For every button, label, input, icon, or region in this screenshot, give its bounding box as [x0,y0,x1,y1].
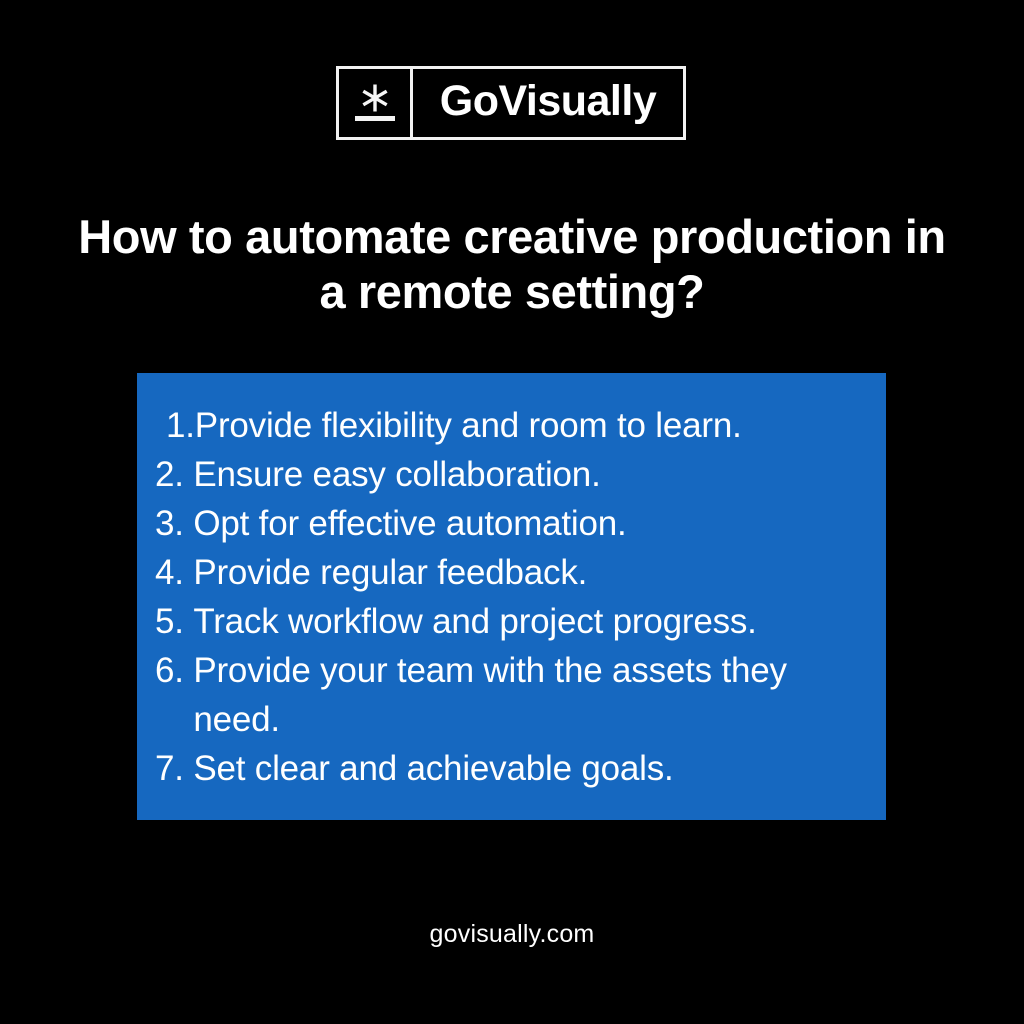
list-item-label: Provide your team with the assets they n… [193,646,868,744]
tips-list: 1. Provide flexibility and room to learn… [155,401,868,793]
list-item-number: 4. [155,548,193,597]
list-item-number: 5. [155,597,193,646]
list-item-label: Set clear and achievable goals. [193,744,868,793]
list-item: 7. Set clear and achievable goals. [155,744,868,793]
list-item-label: Track workflow and project progress. [193,597,868,646]
list-item-number: 1. [155,401,195,450]
list-item: 2. Ensure easy collaboration. [155,450,868,499]
list-item-number: 6. [155,646,193,695]
tips-panel: 1. Provide flexibility and room to learn… [137,373,886,820]
underline-bar-icon [355,116,395,121]
list-item-number: 2. [155,450,193,499]
list-item-number: 3. [155,499,193,548]
list-item-label: Opt for effective automation. [193,499,868,548]
footer-url[interactable]: govisually.com [0,920,1024,949]
list-item: 4. Provide regular feedback. [155,548,868,597]
list-item-number: 7. [155,744,193,793]
list-item-label: Ensure easy collaboration. [193,450,868,499]
poster-canvas: GoVisually How to automate creative prod… [0,0,1024,1024]
logo-wordmark: GoVisually [413,69,683,137]
list-item: 1. Provide flexibility and room to learn… [155,401,868,450]
list-item: 3. Opt for effective automation. [155,499,868,548]
asterisk-icon [360,83,390,113]
list-item-label: Provide regular feedback. [193,548,868,597]
logo-mark [339,69,413,137]
list-item: 6. Provide your team with the assets the… [155,646,868,744]
list-item: 5. Track workflow and project progress. [155,597,868,646]
list-item-label: Provide flexibility and room to learn. [195,401,868,450]
brand-logo[interactable]: GoVisually [336,66,686,140]
page-title: How to automate creative production in a… [0,209,1024,319]
